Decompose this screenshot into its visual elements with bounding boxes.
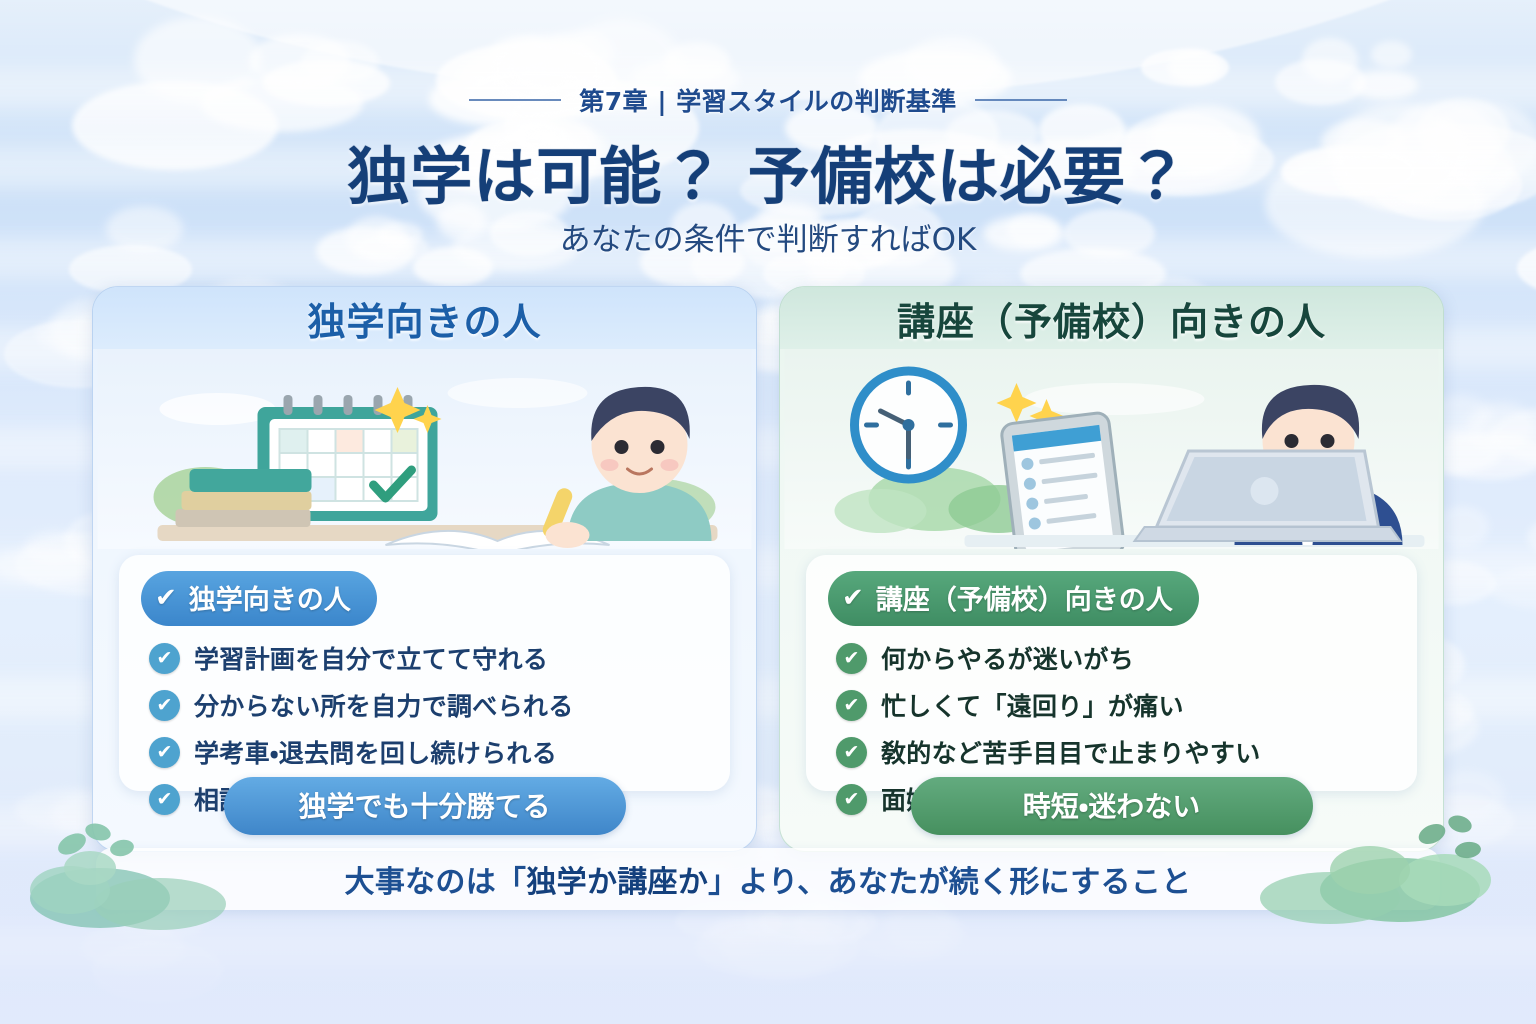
badge-label: 講座（予備校）向きの人 [876,578,1173,617]
foliage-right [1210,798,1510,928]
column-heading-self-study: 独学向きの人 [93,287,756,349]
list-item-label: 分からない所を自力で調べられる [194,687,574,723]
businessman-laptop-illustration [780,349,1443,549]
column-prep-school: 講座（予備校）向きの人 [779,286,1444,852]
page-title: 独学は可能？ 予備校は必要？ [0,126,1536,216]
criteria-card-prep-school: ✔ 講座（予備校）向きの人 ✔ 何からやるが迷いがち ✔ 忙しくて「遠回り」が痛… [806,555,1417,791]
student-studying-illustration [93,349,756,549]
banner-prefix: 大事なのは「 [345,857,527,901]
list-item-label: 学習計画を自分で立てて守れる [194,640,548,676]
illustration-self-study [93,349,756,549]
list-item: ✔ 学習計画を自分で立てて守れる [149,640,708,676]
infographic-stage: 第7章 | 学習スタイルの判断基準 独学は可能？ 予備校は必要？ あなたの条件で… [0,0,1536,1024]
column-heading-prep-school: 講座（予備校）向きの人 [780,287,1443,349]
list-item-label: 何からやるが迷いがち [881,640,1134,676]
check-icon: ✔ [836,784,867,815]
check-icon: ✔ [155,585,177,611]
check-icon: ✔ [149,643,180,674]
kicker-label: 第7章 | 学習スタイルの判断基準 [579,82,956,118]
badge-self-study: ✔ 独学向きの人 [141,571,377,626]
chapter-kicker: 第7章 | 学習スタイルの判断基準 [0,82,1536,118]
banner-suffix: 」より、あなたが続く形にすること [708,857,1191,901]
list-item: ✔ 何からやるが迷いがち [836,640,1395,676]
banner-strong: 独学か講座か [526,857,708,901]
list-item-label: 忙しくて「遠回り」が痛い [881,687,1184,723]
page-subtitle: あなたの条件で判断すればOK [0,214,1536,259]
check-icon: ✔ [149,737,180,768]
kicker-rule-right [975,99,1067,101]
illustration-prep-school [780,349,1443,549]
badge-label: 独学向きの人 [189,578,351,617]
check-icon: ✔ [149,690,180,721]
criteria-card-self-study: ✔ 独学向きの人 ✔ 学習計画を自分で立てて守れる ✔ 分からない所を自力で調べ… [119,555,730,791]
kicker-rule-left [469,99,561,101]
list-item: ✔ 学考車・退去問を回し続けられる [149,734,708,770]
list-item: ✔ 敎的など苦手目目で止まりやすい [836,734,1395,770]
check-icon: ✔ [149,784,180,815]
list-item-label: 学考車・退去問を回し続けられる [194,734,557,770]
list-item: ✔ 忙しくて「遠回り」が痛い [836,687,1395,723]
foliage-left [30,812,300,932]
check-icon: ✔ [842,585,864,611]
check-icon: ✔ [836,737,867,768]
list-item-label: 敎的など苦手目目で止まりやすい [881,734,1261,770]
list-item: ✔ 分からない所を自力で調べられる [149,687,708,723]
column-self-study: 独学向きの人 [92,286,757,852]
check-icon: ✔ [836,643,867,674]
badge-prep-school: ✔ 講座（予備校）向きの人 [828,571,1199,626]
comparison-columns: 独学向きの人 [92,286,1444,852]
check-icon: ✔ [836,690,867,721]
